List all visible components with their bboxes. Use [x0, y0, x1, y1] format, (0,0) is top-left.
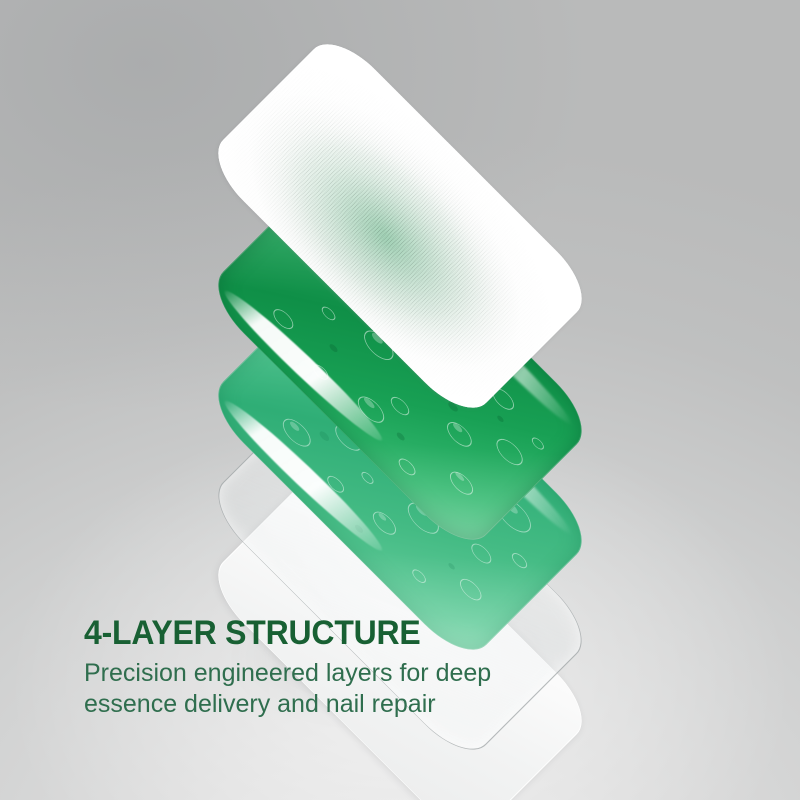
layer-mesh-top-film	[214, 40, 586, 412]
mesh-edge-fade	[203, 29, 598, 424]
caption-subtitle-line-2: essence delivery and nail repair	[84, 689, 514, 720]
caption-subtitle: Precision engineered layers for deep ess…	[84, 658, 514, 720]
layer-1-sheet	[203, 29, 598, 424]
caption-block: 4-LAYER STRUCTURE Precision engineered l…	[84, 614, 644, 720]
exploded-layer-stack	[0, 0, 800, 620]
layer-1-sheet-wrapper	[214, 40, 586, 412]
page-title: 4-LAYER STRUCTURE	[84, 614, 610, 652]
caption-subtitle-line-1: Precision engineered layers for deep	[84, 658, 514, 689]
product-infographic-canvas: 4-LAYER STRUCTURE Precision engineered l…	[0, 0, 800, 800]
